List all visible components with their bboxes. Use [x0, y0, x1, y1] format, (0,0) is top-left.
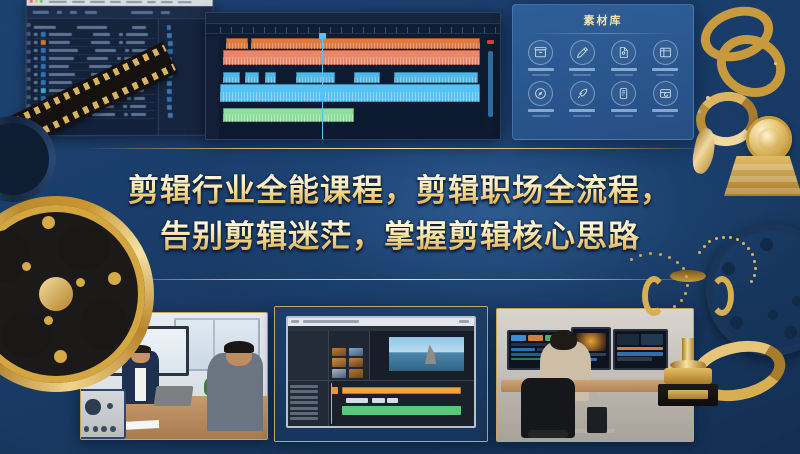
poster-canvas: 素材库: [0, 0, 800, 454]
vignette-overlay: [0, 0, 800, 454]
